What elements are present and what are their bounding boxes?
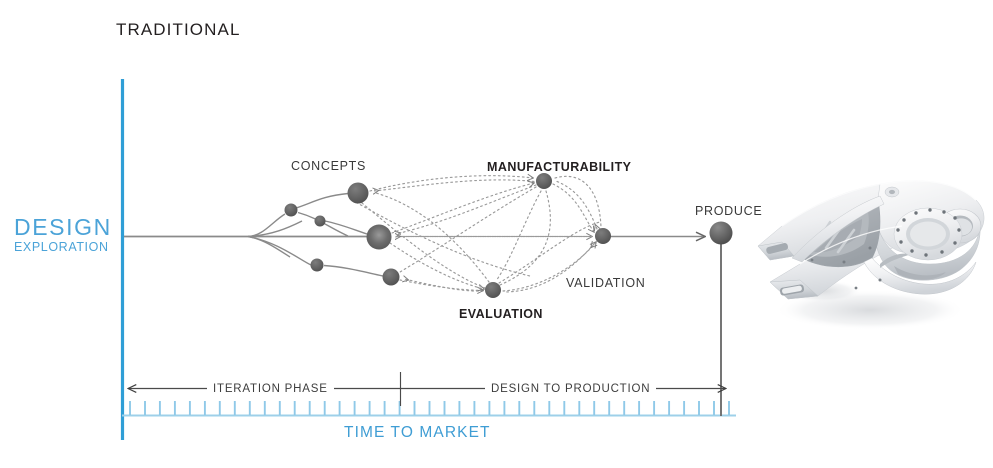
node-concept-small-lower [311,259,324,272]
label-concepts: CONCEPTS [291,159,366,173]
node-concept-small-upper [285,204,298,217]
label-validation: VALIDATION [566,276,645,290]
design-exploration-axis-label: DESIGN EXPLORATION [14,216,112,254]
time-axis-ticks [130,401,729,415]
diagram-canvas: TRADITIONAL DESIGN EXPLORATION CONCEPTS … [0,0,993,468]
page-title: TRADITIONAL [116,20,241,40]
node-group [285,173,733,298]
node-manufacturability [536,173,552,189]
node-concept-large-lower [383,269,400,286]
3d-bracket-render [752,160,987,340]
node-concept-large-mid [367,225,392,250]
design-axis-word: DESIGN [14,216,112,239]
node-concept-large-upper [348,183,369,204]
node-validation [595,228,611,244]
node-produce [710,222,733,245]
label-iteration-phase: ITERATION PHASE [207,383,334,395]
exploration-axis-word: EXPLORATION [14,240,112,254]
node-concept-small-mid [315,216,326,227]
label-evaluation: EVALUATION [459,307,543,321]
label-time-to-market: TIME TO MARKET [344,424,491,442]
label-design-to-production: DESIGN TO PRODUCTION [485,383,656,395]
label-manufacturability: MANUFACTURABILITY [487,160,631,174]
node-evaluation [485,282,501,298]
